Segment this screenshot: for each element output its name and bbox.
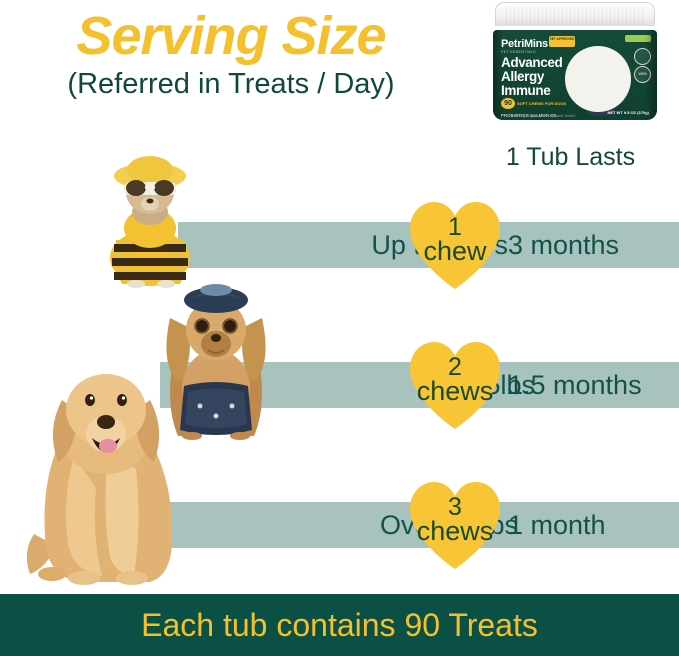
product-name-line-3: Immune: [501, 84, 562, 98]
tub-left-shading: [493, 30, 503, 120]
row-1-chew-word: chew: [406, 238, 504, 265]
vet-approved-badge: VET APPROVED: [549, 36, 575, 47]
bottom-banner-text: Each tub contains 90 Treats: [141, 607, 538, 644]
page-title: Serving Size: [0, 8, 462, 65]
product-name-line-1: Advanced: [501, 56, 562, 70]
bottom-banner: Each tub contains 90 Treats: [0, 594, 679, 656]
row-3-chew-word: chews: [406, 518, 504, 545]
brand-name: PetriMins: [501, 38, 548, 50]
row-1-chew-heart: 1 chew: [406, 199, 504, 291]
net-weight-text: NET WT 9.5 OZ (270g): [607, 110, 649, 115]
product-tub-image: PetriMins PET ESSENTIALS VET APPROVED Ad…: [487, 2, 663, 138]
row-2-duration: 1.5 months: [508, 362, 642, 408]
vet-approved-badge-text: VET APPROVED: [549, 36, 575, 42]
tub-lid: [495, 2, 655, 28]
tub-body: PetriMins PET ESSENTIALS VET APPROVED Ad…: [487, 26, 663, 130]
tub-lid-ridges: [506, 6, 644, 26]
golden-retriever-icon: [22, 338, 197, 588]
page-subtitle: (Referred in Treats / Day): [0, 69, 462, 101]
dog-photo-chihuahua: [88, 140, 213, 288]
dog-photo-golden-retriever: [22, 338, 197, 588]
tub-label: PetriMins PET ESSENTIALS VET APPROVED Ad…: [493, 30, 657, 120]
chew-count-badge: 90 SOFT CHEWS FOR DOGS: [501, 98, 566, 109]
brand-tagline: PET ESSENTIALS: [501, 50, 536, 54]
label-footer-text: Immunity Support for Improved Health: [511, 114, 576, 118]
tub-lasts-label: 1 Tub Lasts: [462, 143, 679, 172]
row-3-duration: 1 month: [508, 502, 606, 548]
row-3-chew-heart: 3 chews: [406, 479, 504, 571]
serving-size-infographic: Serving Size (Referred in Treats / Day): [0, 0, 679, 656]
product-name-line-2: Allergy: [501, 70, 562, 84]
label-photo-disc: [565, 46, 631, 112]
label-bullet-2: COLOSTRUM: [501, 119, 558, 120]
row-2-chew-word: chews: [406, 378, 504, 405]
chihuahua-icon: [88, 140, 213, 288]
tub-right-shading: [645, 30, 657, 120]
chew-count-number: 90: [501, 98, 515, 109]
product-name: Advanced Allergy Immune: [501, 56, 562, 98]
row-2-chew-heart: 2 chews: [406, 339, 504, 431]
row-1-duration: 3 months: [508, 222, 619, 268]
chew-count-text: SOFT CHEWS FOR DOGS: [517, 101, 566, 106]
poodle-photo-on-label: [569, 44, 633, 118]
header-block: Serving Size (Referred in Treats / Day): [0, 8, 462, 101]
row-2-chew-text: 2 chews: [406, 355, 504, 405]
row-3-chew-text: 3 chews: [406, 495, 504, 545]
row-1-chew-text: 1 chew: [406, 215, 504, 265]
